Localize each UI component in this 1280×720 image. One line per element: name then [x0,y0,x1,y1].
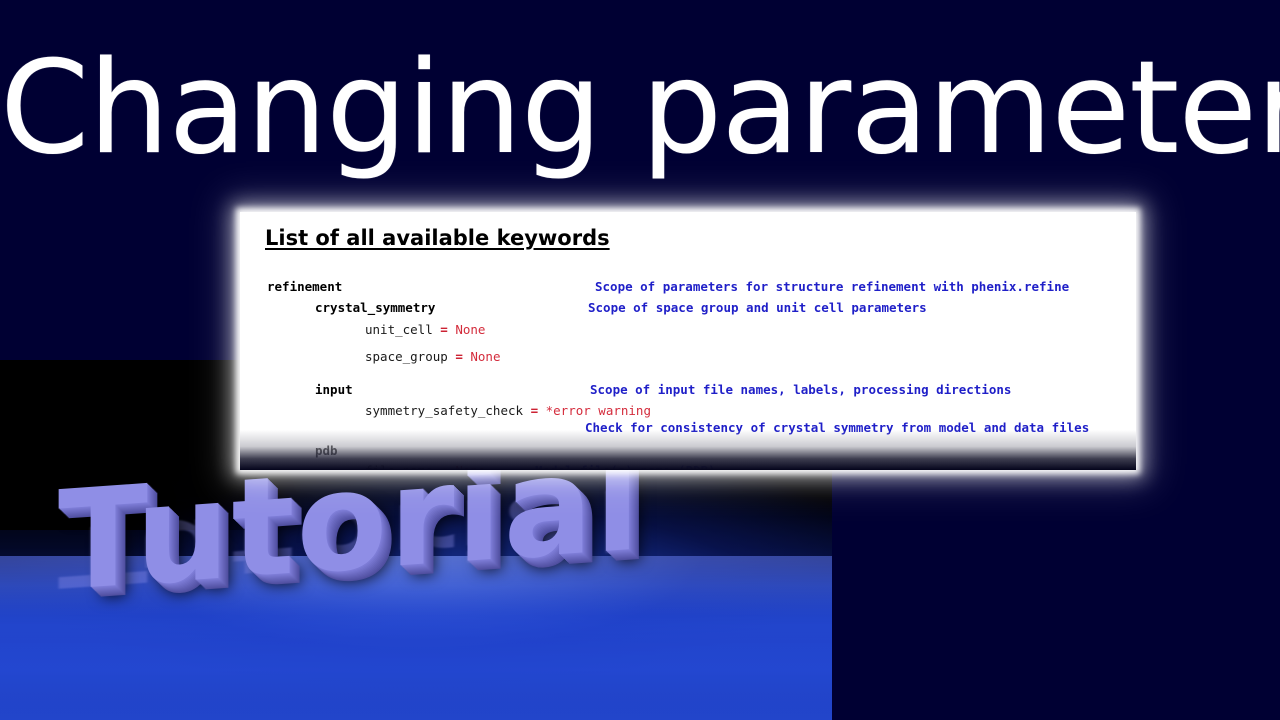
keyword-scope-name: crystal_symmetry [315,300,435,315]
keyword-line: symmetry_safety_check = *error warning [365,404,651,418]
keyword-value: None [470,349,500,364]
keyword-line: input [315,383,353,397]
keyword-line: crystal_symmetry [315,301,435,315]
keyword-param-name: space_group [365,349,448,364]
keyword-line: space_group = None [365,350,500,364]
keyword-listing: refinementScope of parameters for struct… [240,268,1136,470]
page-title: Changing parameters [0,34,1280,184]
keyword-line: unit_cell = None [365,323,485,337]
keyword-param-name: file_name [365,463,433,470]
keyword-scope-name: refinement [267,279,342,294]
keyword-scope-name: input [315,382,353,397]
keyword-description: Model file(s) name (PDB) [535,464,716,470]
keyword-equals-sign: = [433,463,456,470]
keyword-description: Scope of space group and unit cell param… [588,301,927,315]
keyword-value: None [455,322,485,337]
keyword-equals-sign: = [448,349,471,364]
keyword-param-name: unit_cell [365,322,433,337]
keyword-line: pdb [315,444,338,458]
keyword-listing-panel: List of all available keywords refinemen… [240,212,1136,470]
keyword-param-name: symmetry_safety_check [365,403,523,418]
keyword-equals-sign: = [433,322,456,337]
slide-canvas: Changing parameters Tutorial Tutorial Li… [0,0,1280,720]
keyword-description: Check for consistency of crystal symmetr… [585,421,1089,435]
keyword-line: refinement [267,280,342,294]
keyword-description: Scope of input file names, labels, proce… [590,383,1011,397]
keyword-value: *error warning [546,403,651,418]
keyword-value: None [455,463,485,470]
keyword-scope-name: pdb [315,443,338,458]
keyword-line: file_name = None [365,464,485,470]
keyword-equals-sign: = [523,403,546,418]
keyword-description: Scope of parameters for structure refine… [595,280,1069,294]
panel-heading: List of all available keywords [265,225,610,251]
